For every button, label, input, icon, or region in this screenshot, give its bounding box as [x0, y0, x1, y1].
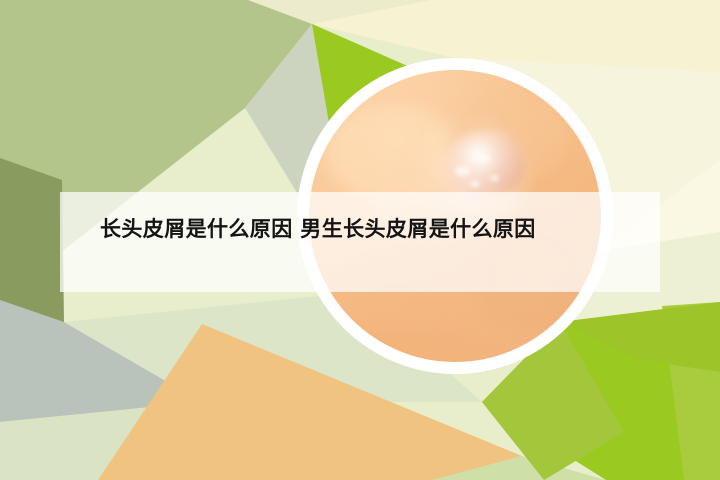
dandruff-flake [455, 166, 470, 175]
dandruff-flake [470, 181, 480, 187]
dandruff-flake [490, 175, 499, 181]
article-thumbnail-card: 长头皮屑是什么原因 男生长头皮屑是什么原因 [0, 0, 720, 480]
headline-text: 长头皮屑是什么原因 男生长头皮屑是什么原因 [100, 212, 640, 246]
caption-band: 长头皮屑是什么原因 男生长头皮屑是什么原因 [60, 192, 660, 292]
